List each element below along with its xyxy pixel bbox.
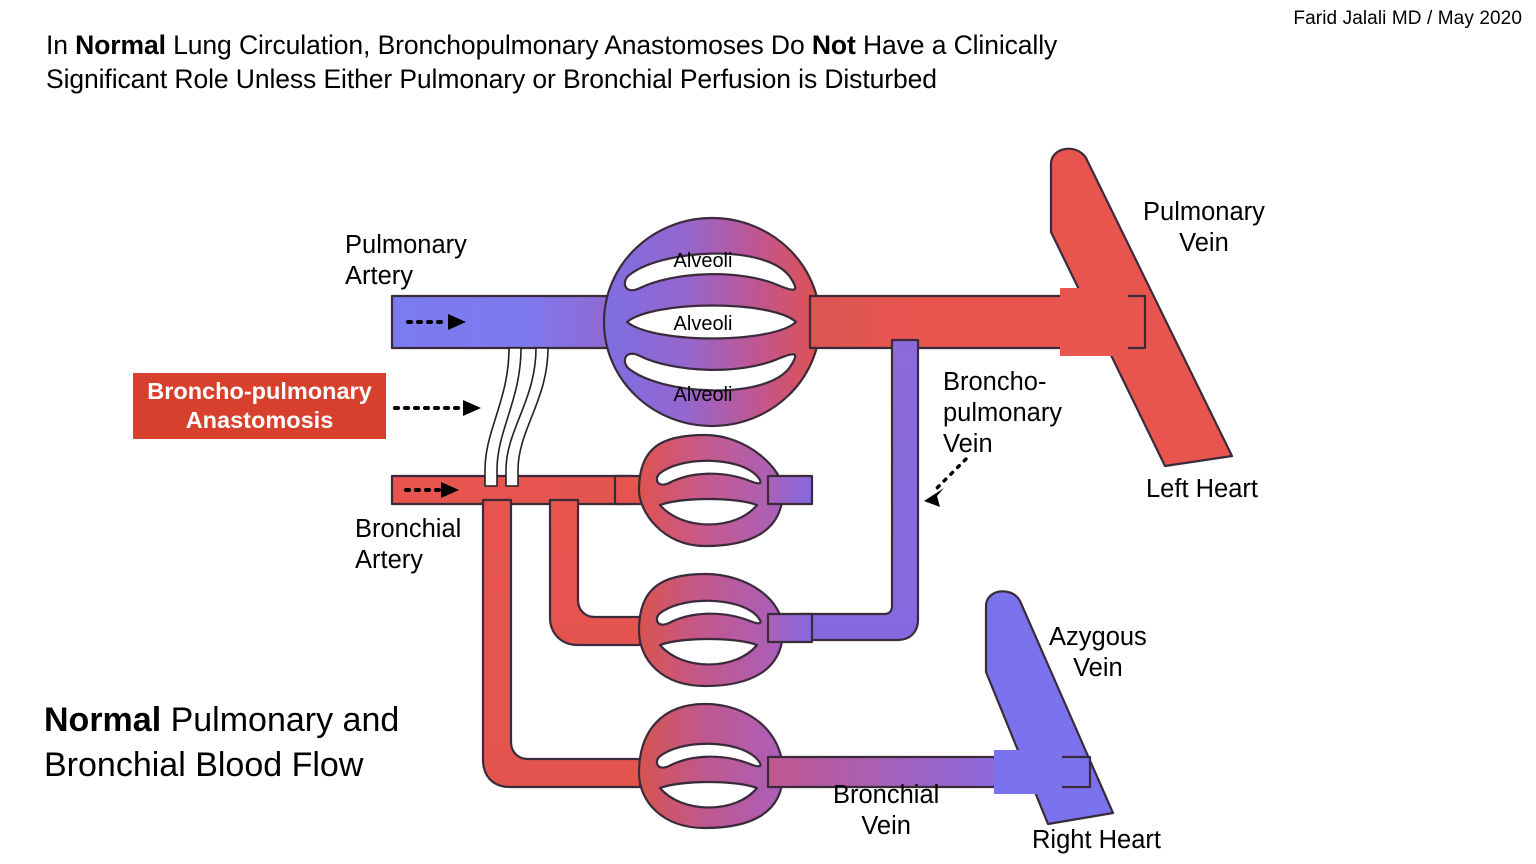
headline-part-1: In xyxy=(46,30,75,60)
alveoli-label-3: Alveoli xyxy=(643,384,763,407)
alveoli-label-2: Alveoli xyxy=(643,313,763,336)
author-credit: Farid Jalali MD / May 2020 xyxy=(1293,8,1522,30)
label-bronchial-artery: Bronchial Artery xyxy=(355,514,461,576)
bronchial-capillary-ring-1 xyxy=(639,435,783,546)
azygous-vein-junction xyxy=(994,750,1062,794)
label-azygous-vein: Azygous Vein xyxy=(1049,622,1147,684)
diagram-caption: Normal Pulmonary and Bronchial Blood Flo… xyxy=(44,698,464,788)
alveoli-label-1: Alveoli xyxy=(643,250,763,273)
label-pulmonary-vein: Pulmonary Vein xyxy=(1143,197,1265,259)
caption-bold-normal: Normal xyxy=(44,701,161,739)
bronchopulmonary-vein-pointer-arrowhead xyxy=(924,488,944,507)
label-right-heart: Right Heart xyxy=(1032,825,1161,856)
bronchial-artery-branch-middle xyxy=(550,500,640,645)
label-pulmonary-artery: Pulmonary Artery xyxy=(345,230,467,292)
headline-part-2: Lung Circulation, Bronchopulmonary Anast… xyxy=(166,30,812,60)
label-bronchopulmonary-vein: Broncho- pulmonary Vein xyxy=(943,367,1062,460)
bronchopulmonary-anastomosis-callout[interactable]: Broncho-pulmonary Anastomosis xyxy=(133,373,386,439)
label-bronchial-vein: Bronchial Vein xyxy=(833,780,939,842)
capillary-2-outflow xyxy=(768,614,812,642)
headline-bold-normal: Normal xyxy=(75,30,166,60)
bronchial-capillary-ring-2 xyxy=(639,574,783,686)
capillary-1-outflow xyxy=(768,476,812,504)
pulmonary-vein-horizontal xyxy=(810,296,1095,348)
headline-bold-not: Not xyxy=(812,30,856,60)
label-left-heart: Left Heart xyxy=(1146,474,1258,505)
diagram-canvas: Farid Jalali MD / May 2020 In Normal Lun… xyxy=(0,0,1536,864)
anastomosis-pointer-arrowhead xyxy=(463,400,481,416)
bronchopulmonary-vein-vessel xyxy=(800,340,918,640)
pulmonary-vein-junction xyxy=(1060,288,1128,356)
page-title: In Normal Lung Circulation, Bronchopulmo… xyxy=(46,28,1166,96)
pulmonary-artery-vessel xyxy=(392,296,610,348)
bronchopulmonary-vein-pointer-line xyxy=(936,459,966,489)
